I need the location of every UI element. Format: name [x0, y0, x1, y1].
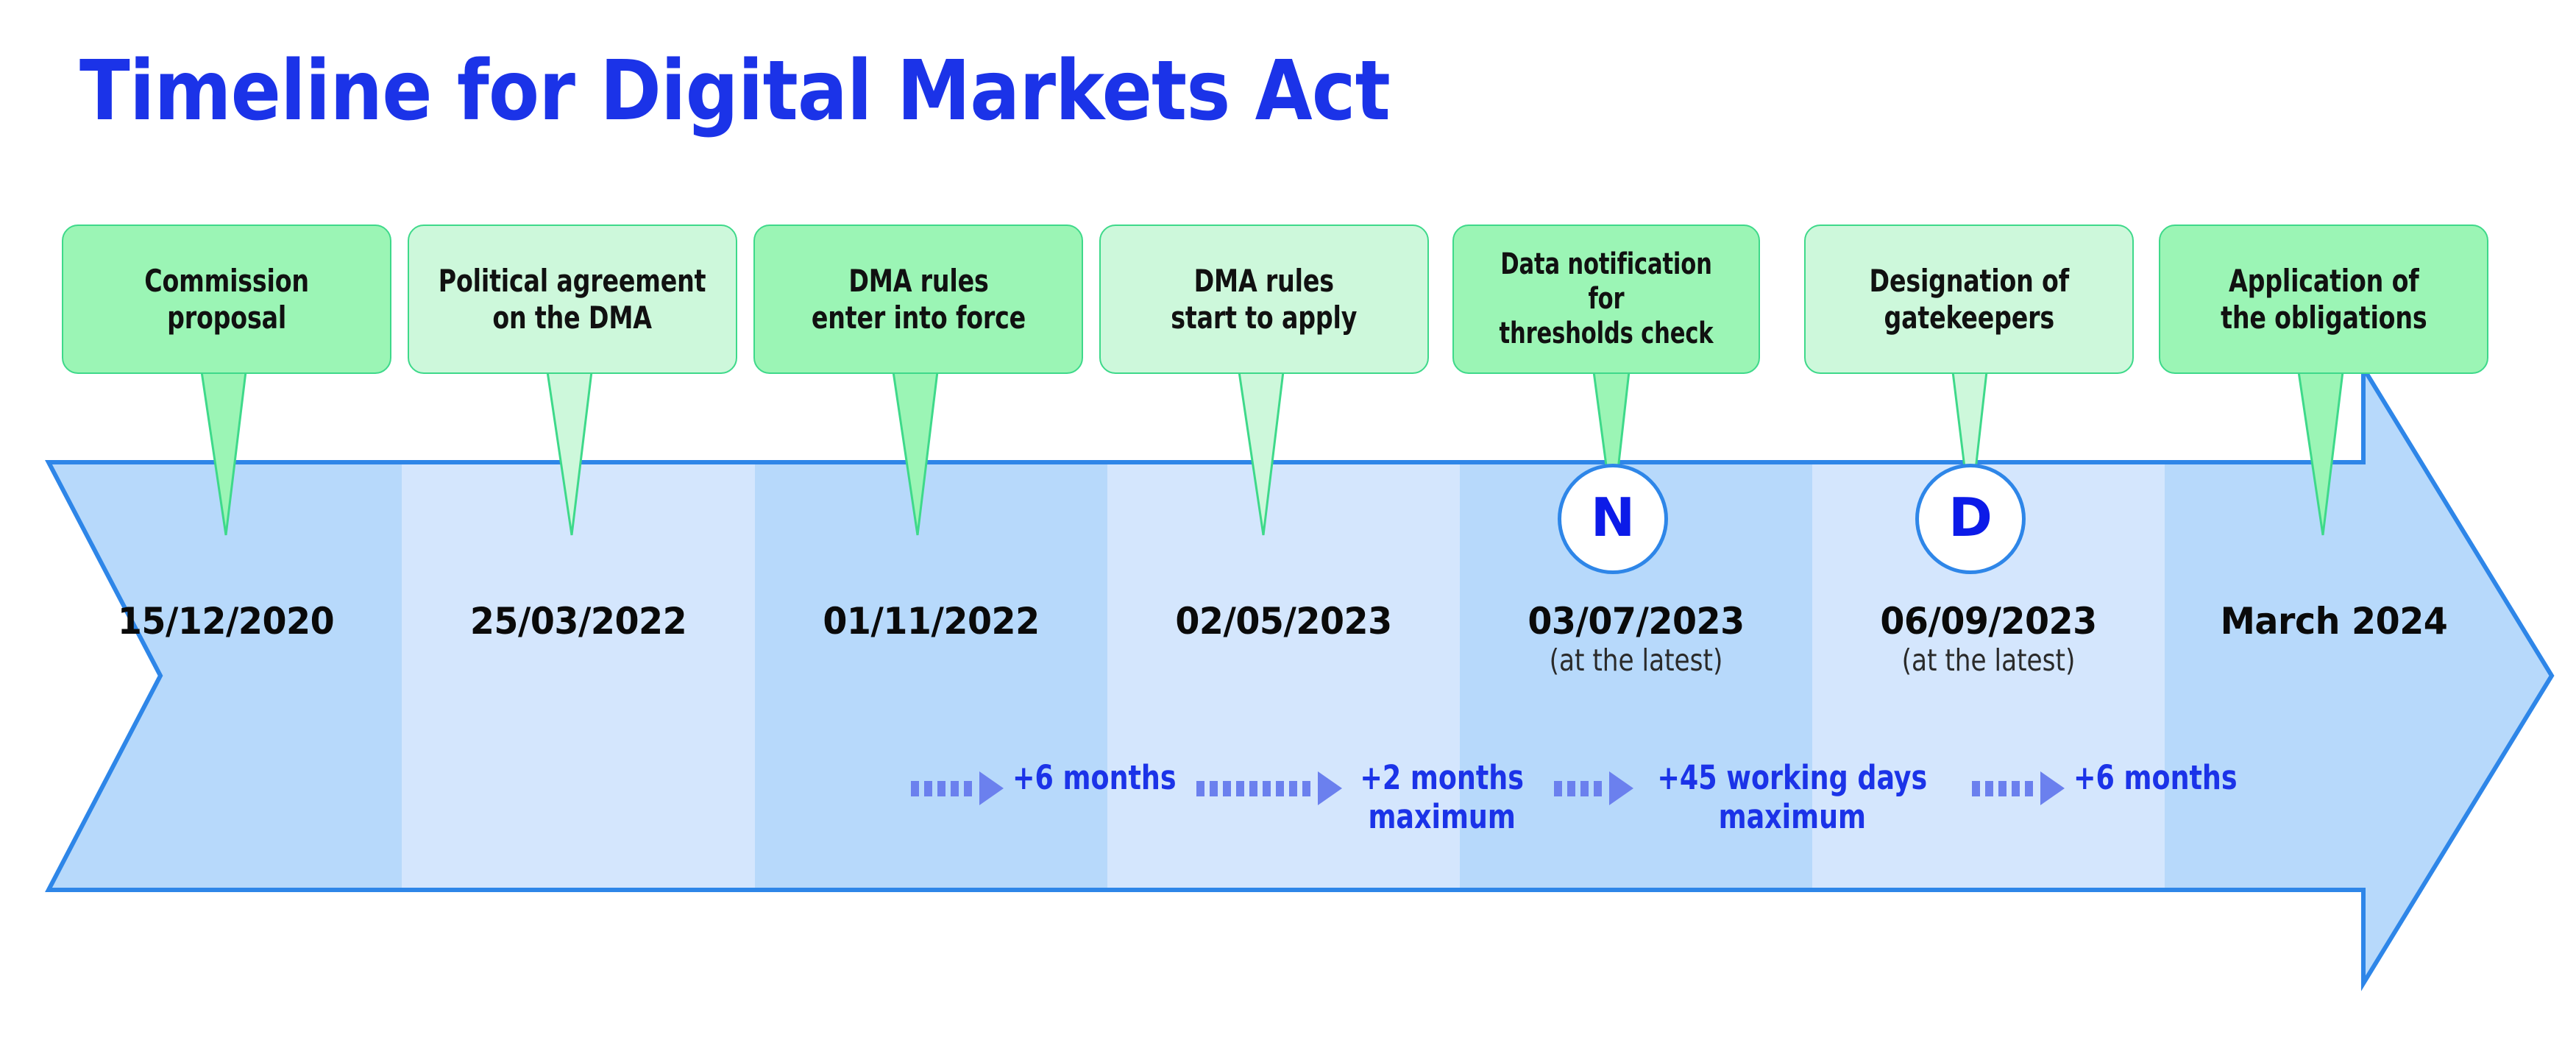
callout-box-designation-of-gatekeepers[interactable]: Designation of gatekeepers [1804, 224, 2134, 374]
marker-circle-designation[interactable]: D [1915, 464, 2026, 574]
date-cell-6: 06/09/2023 (at the latest) [1812, 602, 2165, 679]
callout-label: Political agreement on the DMA [439, 263, 706, 336]
timeline-arrow-band [0, 0, 2576, 1043]
date-value: 02/05/2023 [1116, 602, 1451, 641]
duration-label: +2 months maximum [1360, 758, 1524, 836]
dotted-arrow-icon [911, 771, 1004, 805]
duration-1: +6 months [911, 758, 1194, 805]
marker-letter: D [1948, 491, 1993, 544]
callout-label: Data notification for thresholds check [1482, 247, 1731, 352]
callout-box-commission-proposal[interactable]: Commission proposal [62, 224, 391, 374]
date-value: 03/07/2023 [1469, 602, 1803, 641]
duration-3: +45 working days maximum [1554, 758, 1942, 836]
marker-letter: N [1591, 491, 1635, 544]
band-segments [0, 346, 2576, 1008]
marker-circle-notification[interactable]: N [1558, 464, 1668, 574]
band-segment-7 [2165, 346, 2576, 1008]
duration-2: +2 months maximum [1196, 758, 1533, 836]
callout-box-application-of-obligations[interactable]: Application of the obligations [2159, 224, 2488, 374]
date-value: 06/09/2023 [1821, 602, 2156, 641]
date-value: 01/11/2022 [764, 602, 1099, 641]
date-cell-2: 25/03/2022 [402, 602, 755, 643]
callout-box-political-agreement[interactable]: Political agreement on the DMA [408, 224, 737, 374]
callout-label: DMA rules start to apply [1171, 263, 1358, 336]
dotted-arrow-icon [1554, 771, 1633, 805]
band-segment-4 [1107, 346, 1460, 1008]
dotted-arrow-icon [1972, 771, 2065, 805]
date-cell-3: 01/11/2022 [755, 602, 1107, 643]
callout-label: Application of the obligations [2221, 263, 2427, 336]
page-title: Timeline for Digital Markets Act [79, 50, 1390, 132]
band-segment-1 [0, 346, 402, 1008]
dotted-arrow-icon [1196, 771, 1342, 805]
callout-box-data-notification[interactable]: Data notification for thresholds check [1452, 224, 1760, 374]
callout-box-rules-enter-into-force[interactable]: DMA rules enter into force [753, 224, 1083, 374]
date-value: 15/12/2020 [57, 602, 394, 641]
callout-label: Commission proposal [144, 263, 309, 336]
band-segment-3 [755, 346, 1107, 1008]
date-value: 25/03/2022 [411, 602, 746, 641]
callout-label: DMA rules enter into force [811, 263, 1025, 336]
callout-box-rules-start-to-apply[interactable]: DMA rules start to apply [1099, 224, 1429, 374]
date-note: (at the latest) [1472, 643, 1800, 679]
callout-label: Designation of gatekeepers [1869, 263, 2068, 336]
duration-4: +6 months [1972, 758, 2255, 805]
date-cell-1: 15/12/2020 [49, 602, 403, 643]
duration-label: +6 months [1012, 758, 1177, 797]
duration-label: +6 months [2073, 758, 2238, 797]
duration-label: +45 working days maximum [1657, 758, 1927, 836]
date-value: March 2024 [2174, 602, 2495, 641]
date-cell-4: 02/05/2023 [1107, 602, 1460, 643]
date-cell-7: March 2024 [2165, 602, 2503, 643]
date-note: (at the latest) [1825, 643, 2152, 679]
date-cell-5: 03/07/2023 (at the latest) [1460, 602, 1812, 679]
